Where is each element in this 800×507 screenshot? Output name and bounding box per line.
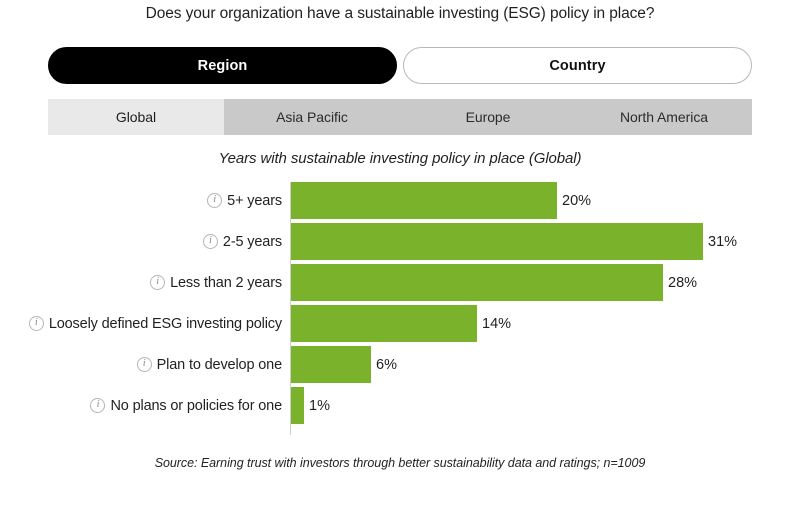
- chart-row: iLess than 2 years28%: [0, 264, 800, 305]
- toggle-option-region[interactable]: Region: [48, 47, 397, 84]
- toggle-option-country[interactable]: Country: [403, 47, 752, 84]
- bar-label-less-than-2-years: iLess than 2 years: [150, 264, 282, 301]
- toggle-option-country-label: Country: [549, 58, 605, 74]
- tab-global[interactable]: Global: [48, 99, 224, 135]
- tab-asia-pacific[interactable]: Asia Pacific: [224, 99, 400, 135]
- bar-value-loosely-defined-esg-investing-policy: 14%: [477, 305, 511, 342]
- bar-label-text: Plan to develop one: [157, 357, 282, 373]
- region-country-toggle: Region Country: [48, 47, 752, 84]
- bar-5-years[interactable]: [291, 182, 557, 219]
- page-title: Does your organization have a sustainabl…: [0, 4, 800, 24]
- bar-label-text: 5+ years: [227, 193, 282, 209]
- bar-value-no-plans-or-policies-for-one: 1%: [304, 387, 330, 424]
- bar-no-plans-or-policies-for-one[interactable]: [291, 387, 304, 424]
- tab-asia-pacific-label: Asia Pacific: [276, 109, 348, 125]
- bar-label-5-years: i5+ years: [207, 182, 282, 219]
- chart-row: iPlan to develop one6%: [0, 346, 800, 387]
- toggle-option-region-label: Region: [198, 58, 248, 74]
- bar-value-plan-to-develop-one: 6%: [371, 346, 397, 383]
- bar-label-loosely-defined-esg-investing-policy: iLoosely defined ESG investing policy: [29, 305, 282, 342]
- tab-north-america[interactable]: North America: [576, 99, 752, 135]
- bar-label-text: Less than 2 years: [170, 275, 282, 291]
- bar-value-5-years: 20%: [557, 182, 591, 219]
- source-note: Source: Earning trust with investors thr…: [0, 456, 800, 470]
- info-icon[interactable]: i: [137, 357, 152, 372]
- chart-row: iNo plans or policies for one1%: [0, 387, 800, 428]
- tab-europe[interactable]: Europe: [400, 99, 576, 135]
- chart-title: Years with sustainable investing policy …: [0, 150, 800, 167]
- bar-label-plan-to-develop-one: iPlan to develop one: [137, 346, 282, 383]
- info-icon[interactable]: i: [150, 275, 165, 290]
- bar-value-2-5-years: 31%: [703, 223, 737, 260]
- tab-north-america-label: North America: [620, 109, 708, 125]
- bar-label-text: Loosely defined ESG investing policy: [49, 316, 282, 332]
- bar-loosely-defined-esg-investing-policy[interactable]: [291, 305, 477, 342]
- region-tabs: Global Asia Pacific Europe North America: [48, 99, 752, 135]
- info-icon[interactable]: i: [29, 316, 44, 331]
- bar-label-text: No plans or policies for one: [110, 398, 282, 414]
- bar-value-less-than-2-years: 28%: [663, 264, 697, 301]
- tab-europe-label: Europe: [466, 109, 511, 125]
- bar-label-text: 2-5 years: [223, 234, 282, 250]
- chart-row: i5+ years20%: [0, 182, 800, 223]
- bar-label-no-plans-or-policies-for-one: iNo plans or policies for one: [90, 387, 282, 424]
- esg-policy-chart-panel: Does your organization have a sustainabl…: [0, 0, 800, 507]
- bar-chart: i5+ years20%i2-5 years31%iLess than 2 ye…: [0, 182, 800, 440]
- info-icon[interactable]: i: [207, 193, 222, 208]
- bar-label-2-5-years: i2-5 years: [203, 223, 282, 260]
- info-icon[interactable]: i: [90, 398, 105, 413]
- chart-row: i2-5 years31%: [0, 223, 800, 264]
- bar-2-5-years[interactable]: [291, 223, 703, 260]
- chart-row: iLoosely defined ESG investing policy14%: [0, 305, 800, 346]
- info-icon[interactable]: i: [203, 234, 218, 249]
- tab-global-label: Global: [116, 109, 156, 125]
- bar-plan-to-develop-one[interactable]: [291, 346, 371, 383]
- bar-less-than-2-years[interactable]: [291, 264, 663, 301]
